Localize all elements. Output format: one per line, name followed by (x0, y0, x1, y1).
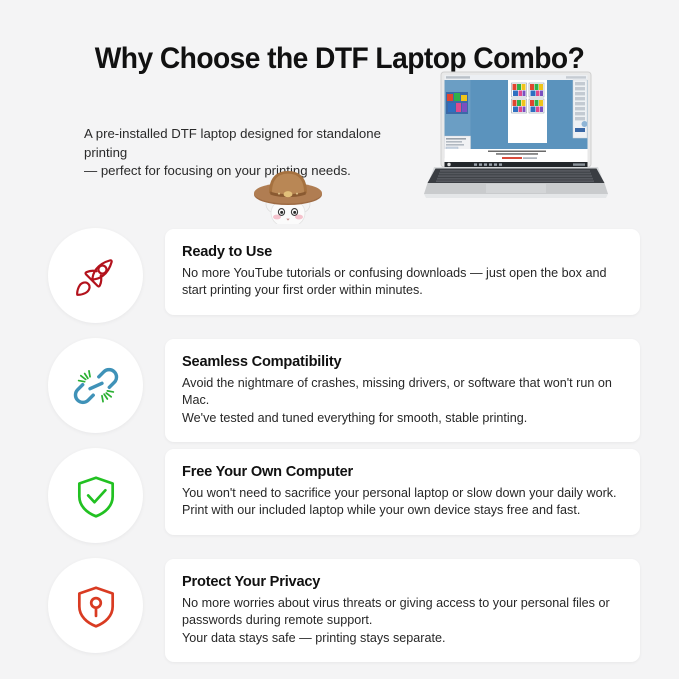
laptop-image (418, 70, 614, 206)
feature-card: Seamless Compatibility Avoid the nightma… (165, 339, 640, 442)
feature-row-seamless-compatibility: Seamless Compatibility Avoid the nightma… (0, 338, 679, 448)
feature-title: Seamless Compatibility (182, 354, 622, 370)
shield-check-icon (48, 448, 143, 543)
feature-card: Protect Your Privacy No more worries abo… (165, 559, 640, 662)
feature-description: You won't need to sacrifice your persona… (182, 485, 622, 520)
feature-row-free-your-own-computer: Free Your Own Computer You won't need to… (0, 448, 679, 558)
feature-card: Free Your Own Computer You won't need to… (165, 449, 640, 535)
feature-description: No more YouTube tutorials or confusing d… (182, 265, 622, 300)
feature-title: Ready to Use (182, 244, 622, 260)
feature-row-protect-your-privacy: Protect Your Privacy No more worries abo… (0, 558, 679, 670)
chain-link-icon (48, 338, 143, 433)
feature-title: Protect Your Privacy (182, 574, 622, 590)
feature-card: Ready to Use No more YouTube tutorials o… (165, 229, 640, 315)
mascot-cowboy-cat-icon (243, 166, 333, 224)
rocket-icon (48, 228, 143, 323)
feature-list: Ready to Use No more YouTube tutorials o… (0, 228, 679, 670)
shield-keyhole-icon (48, 558, 143, 653)
feature-description: No more worries about virus threats or g… (182, 595, 622, 647)
feature-description: Avoid the nightmare of crashes, missing … (182, 375, 622, 427)
feature-title: Free Your Own Computer (182, 464, 622, 480)
feature-row-ready-to-use: Ready to Use No more YouTube tutorials o… (0, 228, 679, 338)
